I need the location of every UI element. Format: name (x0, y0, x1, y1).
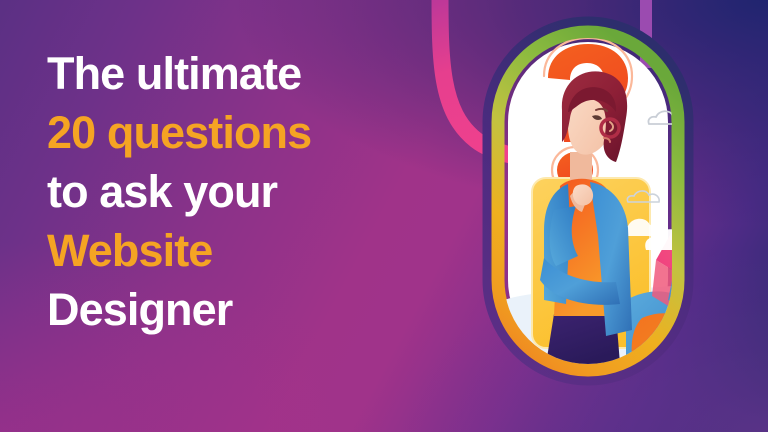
headline-line-1: The ultimate (47, 44, 437, 103)
headline-line-5: Designer (47, 280, 437, 339)
illustration-artwork (420, 0, 768, 432)
headline-line-4: Website (47, 221, 437, 280)
banner-canvas: The ultimate 20 questions to ask your We… (0, 0, 768, 432)
headline-line-2: 20 questions (47, 103, 437, 162)
headline-block: The ultimate 20 questions to ask your We… (47, 44, 437, 339)
headline-line-3: to ask your (47, 162, 437, 221)
